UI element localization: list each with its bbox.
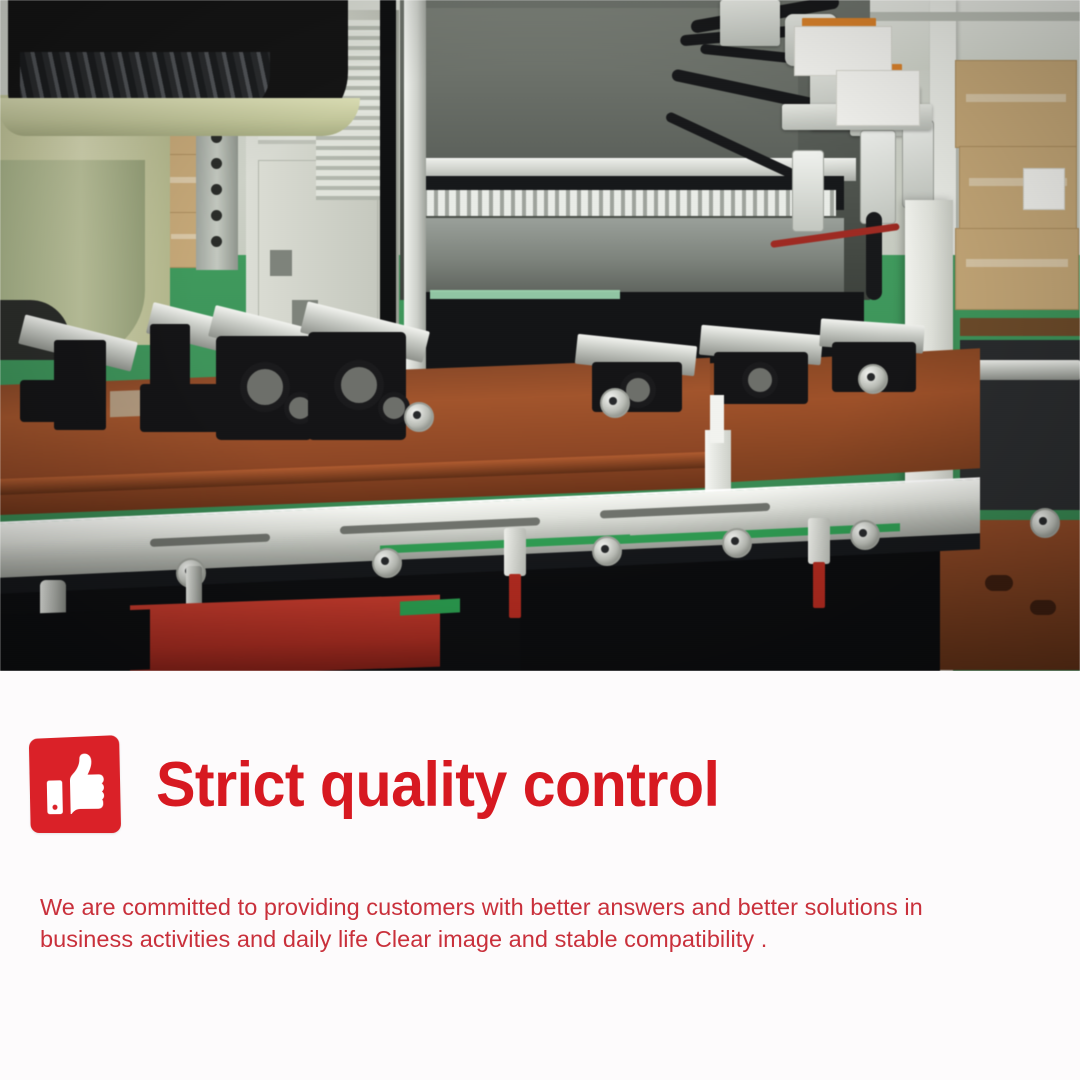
assembly-fixture-1	[20, 318, 140, 448]
thumbs-up-icon	[29, 735, 121, 833]
promo-page: Strict quality control We are committed …	[0, 0, 1080, 1080]
assembly-fixture-5	[576, 340, 706, 450]
wooden-pallet	[960, 318, 1080, 336]
feature-content: Strict quality control We are committed …	[0, 671, 1080, 1080]
pneumatic-stopper-1-rod	[509, 574, 521, 618]
bowl-feeder-rim	[0, 98, 360, 136]
pneumatic-stopper-1	[504, 528, 526, 576]
pneumatic-stopper-2-rod	[813, 562, 825, 608]
foreground-dark-base	[0, 609, 150, 671]
worktable-roller-1	[404, 402, 434, 432]
worktable-roller-3	[858, 364, 888, 394]
worktable-slot-2	[1030, 600, 1056, 615]
machine-green-indicator-strip	[430, 290, 620, 299]
conveyor-roller-4	[722, 528, 752, 558]
right-machine-rail	[965, 360, 1080, 380]
factory-production-line-photo	[0, 0, 1080, 671]
worktable-roller-2	[600, 388, 630, 418]
assembly-fixture-4	[286, 316, 436, 466]
conveyor-roller-3	[592, 536, 622, 566]
feature-description: We are committed to providing customers …	[40, 891, 975, 956]
conveyor-roller-2	[372, 548, 402, 578]
conveyor-roller-6	[1030, 508, 1060, 538]
page-title: Strict quality control	[156, 754, 719, 817]
cabinet-latch-upper	[270, 250, 292, 276]
worktable-slot-1	[985, 575, 1013, 591]
red-parts-tray	[130, 595, 440, 671]
cardboard-box-stack-right	[955, 60, 1080, 320]
white-pusher-arm	[710, 395, 724, 443]
pneumatic-stopper-2	[808, 518, 830, 564]
conveyor-roller-5	[850, 520, 880, 550]
thumbs-up-glyph	[46, 753, 104, 816]
guide-pin-2	[186, 566, 202, 608]
feature-heading-row: Strict quality control	[28, 737, 755, 833]
